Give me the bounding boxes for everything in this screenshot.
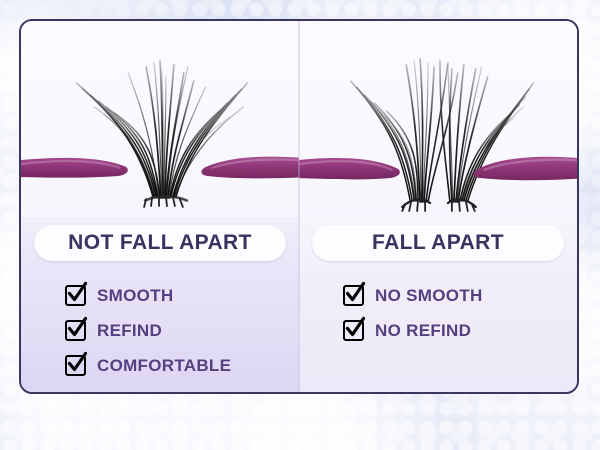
checkbox-comfortable[interactable] (65, 355, 86, 376)
checkbox-no-smooth[interactable] (343, 285, 364, 306)
screenshot-stage: NOT FALL APART SMOOTH (0, 0, 600, 450)
check-row-no-refind[interactable]: NO REFIND (343, 314, 567, 347)
checklist-right: NO SMOOTH NO REFIND (343, 279, 567, 349)
panel-fall-apart: FALL APART NO SMOOTH (299, 21, 577, 392)
pill-fall-apart[interactable]: FALL APART (312, 225, 564, 261)
panel-divider (299, 21, 300, 392)
check-row-smooth[interactable]: SMOOTH (65, 279, 289, 312)
check-row-comfortable[interactable]: COMFORTABLE (65, 349, 289, 382)
check-label-no-smooth: NO SMOOTH (375, 286, 483, 306)
checkbox-refind[interactable] (65, 320, 86, 341)
checkbox-no-refind[interactable] (343, 320, 364, 341)
check-row-refind[interactable]: REFIND (65, 314, 289, 347)
check-row-no-smooth[interactable]: NO SMOOTH (343, 279, 567, 312)
comparison-card: NOT FALL APART SMOOTH (19, 19, 579, 394)
pill-fall-apart-wrap: FALL APART (299, 225, 577, 261)
check-label-no-refind: NO REFIND (375, 321, 471, 341)
checkbox-smooth[interactable] (65, 285, 86, 306)
lash-photo-intact (21, 21, 299, 217)
check-label-refind: REFIND (97, 321, 162, 341)
lash-photo-splitting (299, 21, 577, 217)
checklist-left: SMOOTH REFIND (65, 279, 289, 384)
comparison-panels: NOT FALL APART SMOOTH (21, 21, 577, 392)
pill-not-fall-apart[interactable]: NOT FALL APART (34, 225, 286, 261)
check-label-comfortable: COMFORTABLE (97, 356, 231, 376)
pill-not-fall-apart-wrap: NOT FALL APART (21, 225, 299, 261)
panel-not-fall-apart: NOT FALL APART SMOOTH (21, 21, 299, 392)
check-label-smooth: SMOOTH (97, 286, 173, 306)
